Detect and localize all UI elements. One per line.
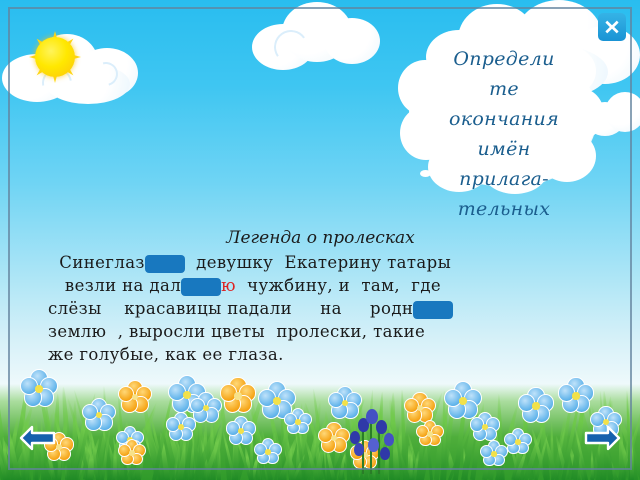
line-2-hint-letter: ю: [221, 276, 236, 295]
close-icon: [603, 18, 621, 36]
arrow-right-icon: [582, 424, 622, 452]
title-line: Определи: [418, 44, 590, 74]
flower: [22, 372, 56, 406]
flower: [482, 442, 506, 466]
line-1-suffix: девушку Екатерину татары: [185, 253, 451, 272]
title-text: Определитеокончанияимёнприлага-тельных: [418, 44, 590, 224]
line-2-suffix: чужбину, и там, где: [236, 276, 441, 295]
next-slide-button[interactable]: [582, 424, 622, 452]
flower: [120, 382, 150, 412]
text-line-5: же голубые, как ее глаза.: [48, 343, 593, 366]
line-1-prefix: Синеглаз: [48, 253, 145, 272]
flower: [256, 440, 280, 464]
arrow-left-icon: [18, 424, 58, 452]
flower: [506, 430, 530, 454]
flower: [446, 384, 480, 418]
text-line-2: везли на далю чужбину, и там, где: [48, 274, 593, 297]
text-line-3: слёзы красавицы падали на родн: [48, 297, 593, 320]
flower: [560, 380, 592, 412]
slide-canvas: Определитеокончанияимёнприлага-тельных Л…: [0, 0, 640, 480]
close-button[interactable]: [598, 13, 626, 41]
answer-blank-3[interactable]: [413, 301, 453, 319]
flower: [418, 422, 442, 446]
flower: [228, 418, 254, 444]
line-3-prefix: слёзы красавицы падали на родн: [48, 299, 413, 318]
flower: [222, 380, 254, 412]
title-line: прилага-: [418, 164, 590, 194]
meadow-decoration: [0, 348, 640, 480]
scilla-bouquet: [340, 408, 404, 474]
title-line: окончания: [418, 104, 590, 134]
answer-blank-1[interactable]: [145, 255, 185, 273]
line-2-prefix: везли на дал: [48, 276, 181, 295]
flower: [120, 441, 144, 465]
title-line: те: [418, 74, 590, 104]
flower: [520, 390, 552, 422]
title-line: тельных: [418, 194, 590, 224]
text-line-1: Синеглаз девушку Екатерину татары: [48, 251, 593, 274]
answer-blank-2[interactable]: [181, 278, 221, 296]
cloud-top-middle: [252, 2, 382, 72]
previous-slide-button[interactable]: [18, 424, 58, 452]
lesson-text-block: Легенда о пролесках Синеглаз девушку Ека…: [48, 228, 593, 366]
legend-body: Синеглаз девушку Екатерину татары везли …: [48, 251, 593, 366]
flower: [168, 414, 194, 440]
flower: [286, 410, 310, 434]
flower: [84, 400, 114, 430]
flower: [192, 394, 220, 422]
title-line: имён: [418, 134, 590, 164]
flower: [472, 414, 498, 440]
legend-heading: Легенда о пролесках: [48, 228, 593, 248]
sun-icon: [12, 14, 98, 100]
flower: [406, 394, 434, 422]
text-line-4: землю , выросли цветы пролески, такие: [48, 320, 593, 343]
